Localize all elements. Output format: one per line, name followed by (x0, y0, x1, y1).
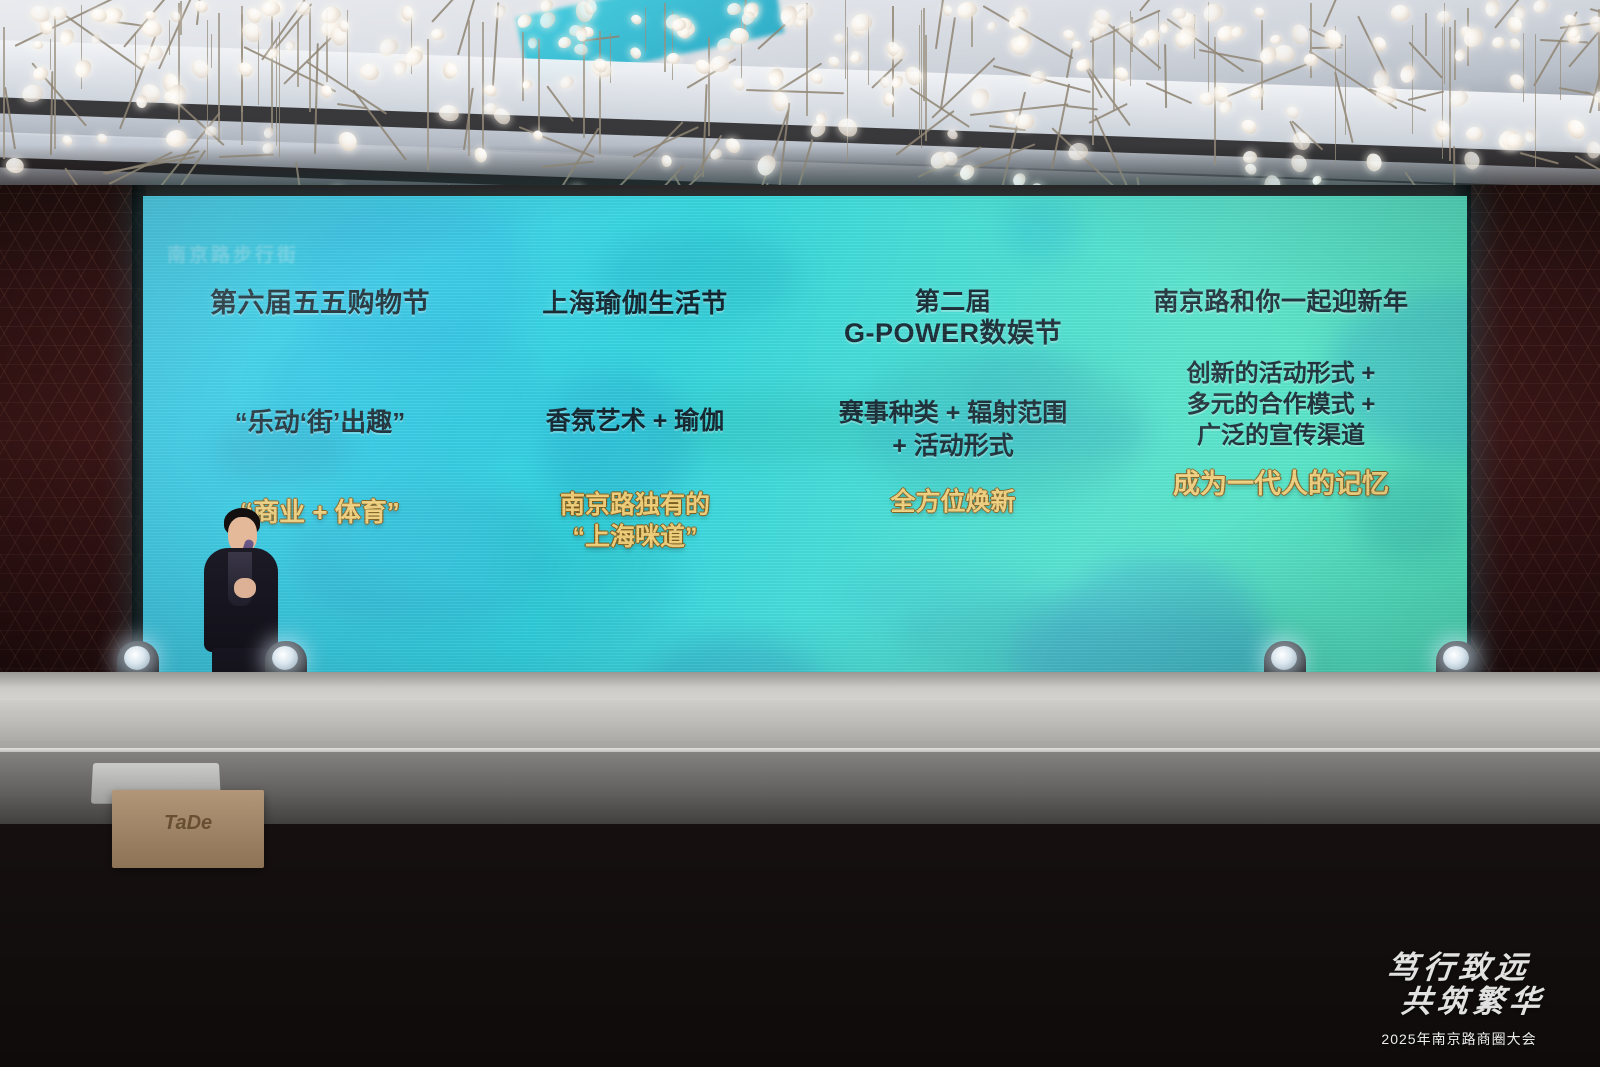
audience-dim-overlay (0, 700, 1600, 1067)
light-lens (124, 646, 150, 670)
led-screen: 南京路步行街 第六届五五购物节 “乐动‘街’出趣” “商业 + 体育” 上海瑜伽… (143, 196, 1467, 674)
conference-stage-photo: 南京路步行街 第六届五五购物节 “乐动‘街’出趣” “商业 + 体育” 上海瑜伽… (0, 0, 1600, 1067)
light-lens (1443, 646, 1469, 670)
ceiling (0, 0, 1600, 215)
light-lens (272, 646, 298, 670)
speaker-hand (234, 578, 256, 598)
light-lens (1271, 646, 1297, 670)
audience-seating (0, 700, 1600, 1067)
screen-vignette (143, 196, 1467, 674)
